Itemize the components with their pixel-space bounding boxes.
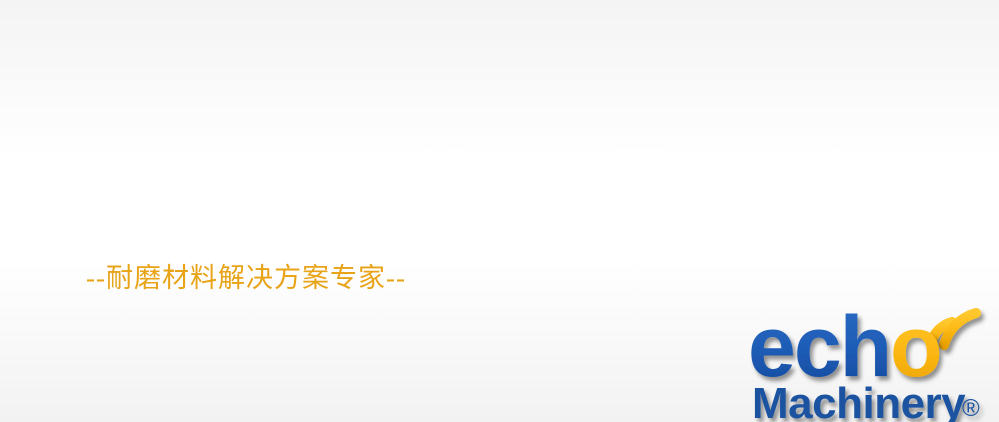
logo-text-machinery: Machinery: [752, 379, 966, 422]
banner-headline: 深耕华东，服务全国，共赢全球: [80, 148, 960, 212]
logo-artwork: ech o Machinery ®: [748, 296, 994, 422]
logo-tagline-group: Machinery ®: [752, 379, 980, 422]
banner-subtitle: --耐磨材料解决方案专家--: [86, 265, 406, 292]
echo-machinery-logo[interactable]: ech o Machinery ®: [748, 296, 994, 422]
promo-banner: 深耕华东，服务全国，共赢全球 --耐磨材料解决方案专家--: [0, 0, 999, 422]
registered-trademark-icon: ®: [962, 395, 980, 422]
